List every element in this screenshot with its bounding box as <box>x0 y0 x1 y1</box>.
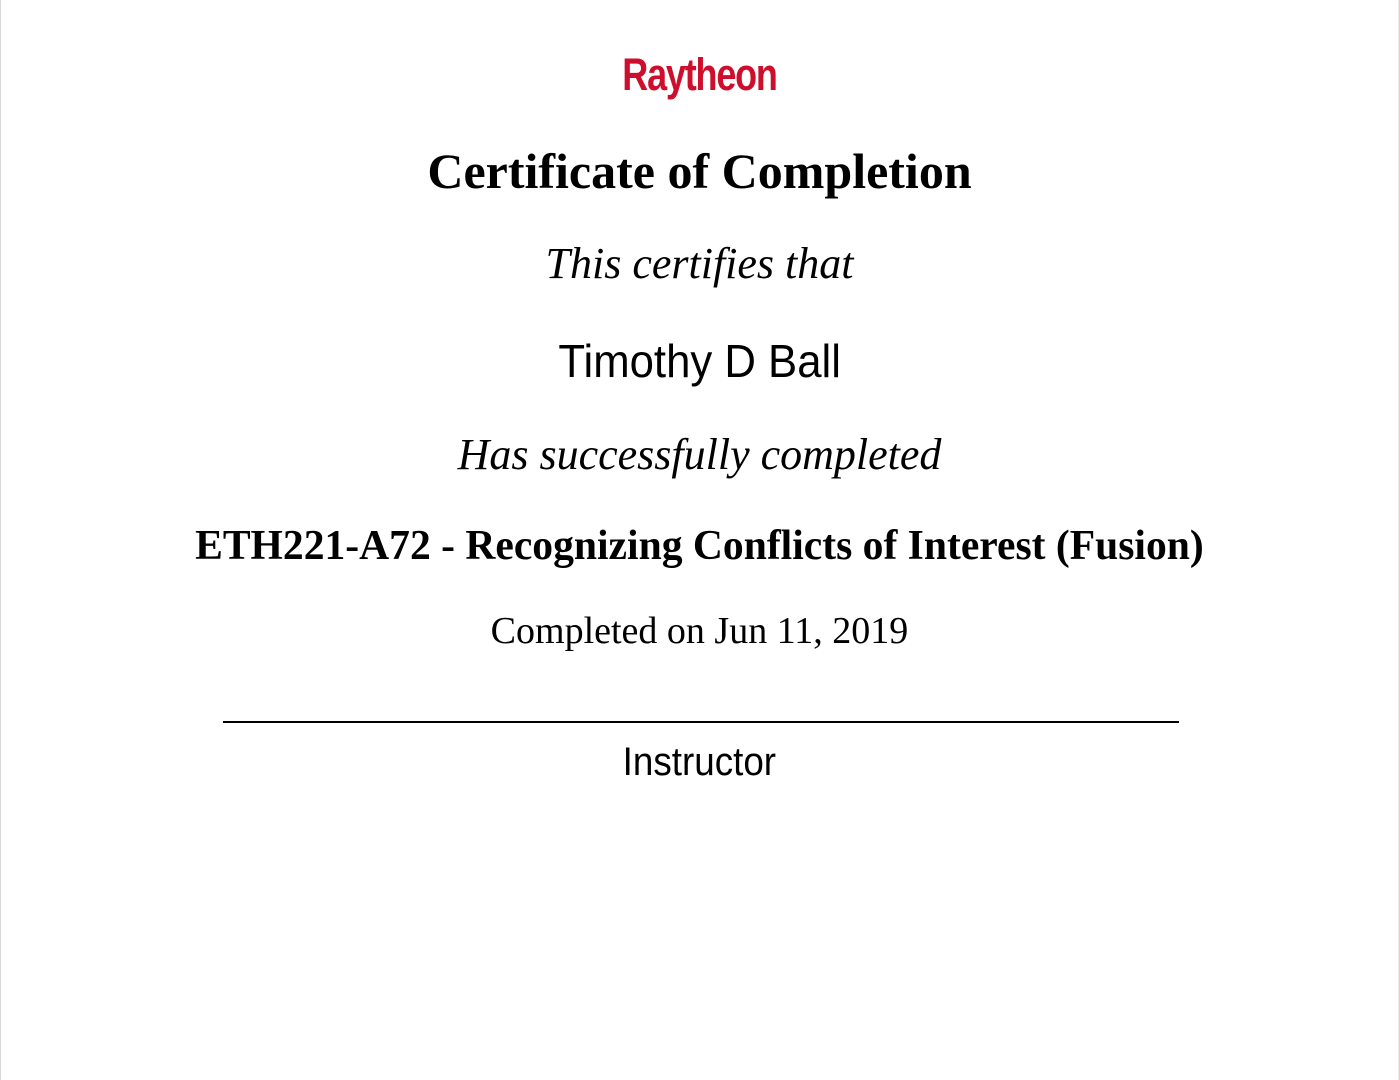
completion-date: Completed on Jun 11, 2019 <box>1 608 1398 654</box>
course-title: ETH221-A72 - Recognizing Conflicts of In… <box>1 521 1398 571</box>
recipient-name: Timothy D Ball <box>1 334 1398 388</box>
raytheon-wordmark-text: Raytheon <box>622 55 776 95</box>
instructor-label-text: Instructor <box>623 738 776 786</box>
raytheon-logo: Raytheon <box>1 55 1398 103</box>
instructor-label: Instructor <box>1 738 1398 786</box>
certificate-page: Raytheon Certificate of Completion This … <box>0 0 1399 1080</box>
completed-phrase: Has successfully completed <box>1 428 1398 482</box>
course-title-text: ETH221-A72 - Recognizing Conflicts of In… <box>195 521 1204 571</box>
certifies-phrase: This certifies that <box>1 237 1398 291</box>
signature-rule <box>223 721 1179 723</box>
certificate-title: Certificate of Completion <box>1 143 1398 199</box>
recipient-name-text: Timothy D Ball <box>558 334 841 388</box>
